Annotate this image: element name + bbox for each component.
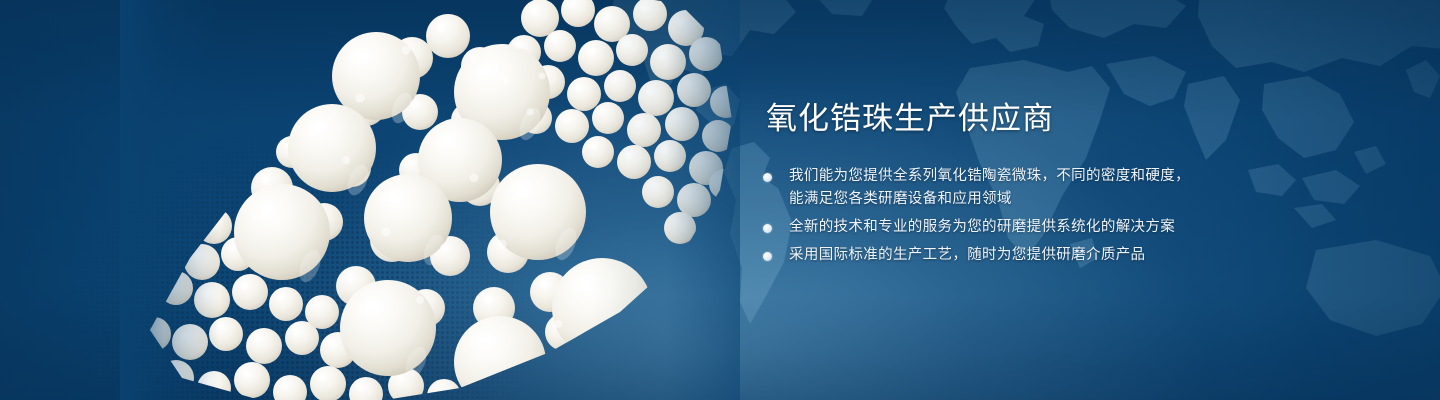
- list-item-line-2: 能满足您各类研磨设备和应用领域: [789, 188, 1383, 211]
- list-item: 全新的技术和专业的服务为您的研磨提供系统化的解决方案: [763, 216, 1383, 239]
- hero-banner: 氧化锆珠生产供应商 我们能为您提供全系列氧化锆陶瓷微珠，不同的密度和硬度， 能满…: [0, 0, 1440, 400]
- list-item: 我们能为您提供全系列氧化锆陶瓷微珠，不同的密度和硬度， 能满足您各类研磨设备和应…: [763, 165, 1383, 211]
- bullet-dot-icon: [763, 252, 772, 261]
- list-item-line-1: 我们能为您提供全系列氧化锆陶瓷微珠，不同的密度和硬度，: [789, 168, 1190, 184]
- banner-copy: 氧化锆珠生产供应商 我们能为您提供全系列氧化锆陶瓷微珠，不同的密度和硬度， 能满…: [763, 104, 1383, 272]
- page-title: 氧化锆珠生产供应商: [766, 104, 1383, 135]
- bullet-dot-icon: [763, 173, 772, 182]
- feature-list: 我们能为您提供全系列氧化锆陶瓷微珠，不同的密度和硬度， 能满足您各类研磨设备和应…: [763, 165, 1383, 267]
- zirconia-beads-image: [120, 0, 740, 400]
- list-item-line-1: 全新的技术和专业的服务为您的研磨提供系统化的解决方案: [789, 219, 1175, 235]
- list-item-line-1: 采用国际标准的生产工艺，随时为您提供研磨介质产品: [789, 247, 1145, 263]
- bullet-dot-icon: [763, 224, 772, 233]
- list-item: 采用国际标准的生产工艺，随时为您提供研磨介质产品: [763, 244, 1383, 267]
